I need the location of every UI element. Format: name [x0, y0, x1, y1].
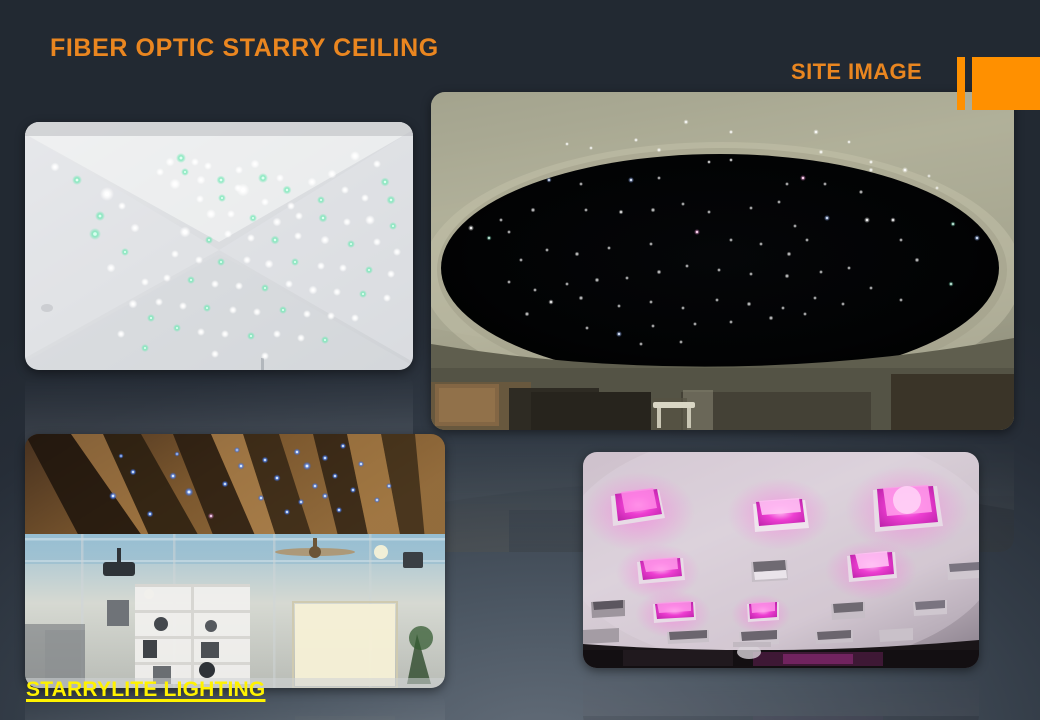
- reflection-pink-ceiling: [583, 670, 979, 720]
- photo-pink-recessed-panel-ceiling[interactable]: [583, 452, 979, 668]
- star-panel-graphic: [25, 122, 413, 370]
- beam-ceiling-graphic: [25, 434, 445, 688]
- orange-accent-block: [972, 57, 1040, 110]
- photo-fiber-optic-star-panel[interactable]: [25, 122, 413, 370]
- reflection-graphic: [583, 670, 979, 720]
- presentation-slide: FIBER OPTIC STARRY CEILING SITE IMAGE ST…: [0, 0, 1040, 720]
- pink-ceiling-graphic: [583, 452, 979, 668]
- starry-dome-graphic: [431, 92, 1014, 430]
- slide-title: FIBER OPTIC STARRY CEILING: [50, 34, 439, 63]
- brand-name-label: STARRYLITE LIGHTING: [26, 678, 265, 702]
- photo-elliptical-starry-dome-ceiling[interactable]: [431, 92, 1014, 430]
- photo-wooden-beam-starry-ceiling[interactable]: [25, 434, 445, 688]
- site-image-label: SITE IMAGE: [791, 59, 922, 85]
- orange-accent-bar: [957, 57, 965, 110]
